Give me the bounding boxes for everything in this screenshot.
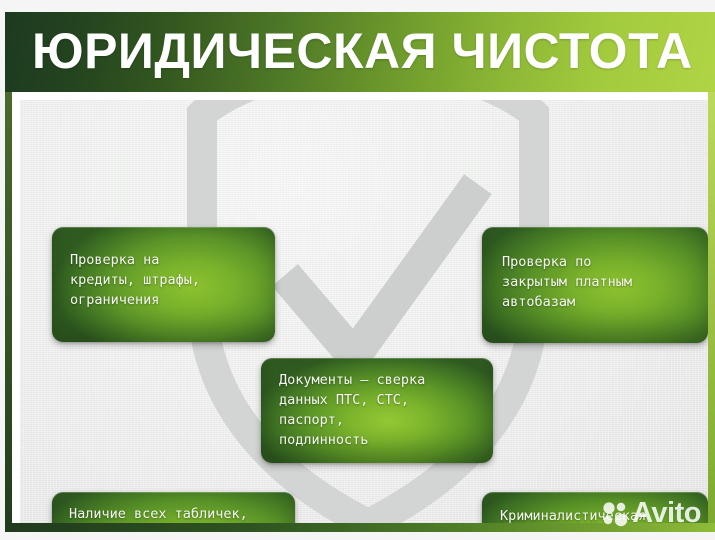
card-autobase-text: Проверка по закрытым платным автобазам [502, 252, 708, 312]
header-banner: ЮРИДИЧЕСКАЯ ЧИСТОТА [5, 12, 715, 92]
board-edge-left [5, 92, 12, 532]
card-forensic[interactable]: Криминалистическая проверка – ПТС, нанес… [482, 492, 708, 524]
card-plates[interactable]: Наличие всех табличек, наклеек, маркиров… [52, 492, 295, 524]
board-surface: Проверка на кредиты, штрафы, ограничения… [20, 100, 708, 524]
card-forensic-text: Криминалистическая проверка – ПТС, нанес… [500, 506, 708, 524]
card-plates-text: Наличие всех табличек, наклеек, маркиров… [69, 504, 295, 524]
content-board: Проверка на кредиты, штрафы, ограничения… [5, 92, 715, 532]
poster-canvas: ЮРИДИЧЕСКАЯ ЧИСТОТА Проверка на кредиты,… [0, 0, 715, 540]
card-autobase[interactable]: Проверка по закрытым платным автобазам [482, 227, 708, 343]
board-edge-right [708, 92, 715, 532]
page-title: ЮРИДИЧЕСКАЯ ЧИСТОТА [32, 26, 693, 76]
card-credits[interactable]: Проверка на кредиты, штрафы, ограничения [52, 227, 275, 342]
board-edge-bottom [5, 523, 715, 532]
card-credits-text: Проверка на кредиты, штрафы, ограничения [70, 250, 275, 310]
card-documents[interactable]: Документы – сверка данных ПТС, СТС, пасп… [261, 358, 493, 463]
card-documents-text: Документы – сверка данных ПТС, СТС, пасп… [279, 370, 493, 450]
